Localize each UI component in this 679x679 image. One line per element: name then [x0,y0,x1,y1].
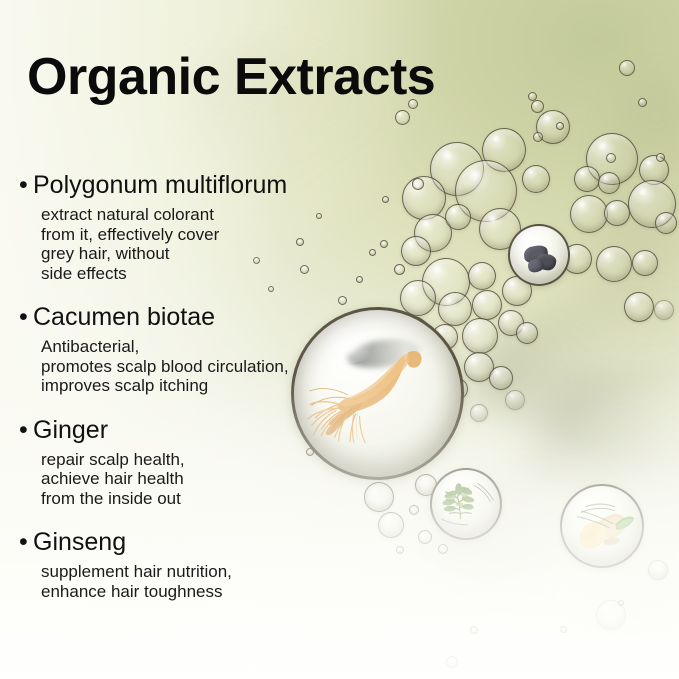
ingredient-name: Polygonum multiflorum [33,170,287,200]
description-line: achieve hair health [41,469,340,489]
description-line: grey hair, without [41,244,340,264]
ingredient-description: repair scalp health, achieve hair health… [41,450,340,509]
description-line: repair scalp health, [41,450,340,470]
ingredient-name: Ginseng [33,527,126,557]
bullet-icon: • [19,415,33,445]
bullet-icon: • [19,527,33,557]
cacumen-biotae-bubble [430,468,502,540]
description-line: side effects [41,264,340,284]
ingredient-list: • Polygonum multiflorum extract natural … [0,170,340,601]
description-line: supplement hair nutrition, [41,562,340,582]
ingredient-description: supplement hair nutrition, enhance hair … [41,562,340,601]
description-line: Antibacterial, [41,337,340,357]
description-line: from the inside out [41,489,340,509]
description-line: extract natural colorant [41,205,340,225]
bullet-icon: • [19,302,33,332]
polygonum-multiflorum-bubble [508,224,570,286]
ingredient-name: Cacumen biotae [33,302,215,332]
page-title: Organic Extracts [27,51,435,103]
ingredient-item-cacumen-biotae: • Cacumen biotae Antibacterial, promotes… [0,302,340,396]
description-line: improves scalp itching [41,376,340,396]
description-line: enhance hair toughness [41,582,340,602]
ingredient-name: Ginger [33,415,108,445]
ingredient-item-ginger: • Ginger repair scalp health, achieve ha… [0,415,340,509]
description-line: promotes scalp blood circulation, [41,357,340,377]
ginger-bubble [560,484,644,568]
ingredient-description: extract natural colorant from it, effect… [41,205,340,283]
bullet-icon: • [19,170,33,200]
ingredient-item-ginseng: • Ginseng supplement hair nutrition, enh… [0,527,340,601]
ginger-slices-illustration [562,486,642,566]
organic-extracts-poster: Organic Extracts • Polygonum multiflorum… [0,0,679,679]
ingredient-item-polygonum-multiflorum: • Polygonum multiflorum extract natural … [0,170,340,283]
description-line: from it, effectively cover [41,225,340,245]
biota-foliage-illustration [432,470,500,538]
ingredient-description: Antibacterial, promotes scalp blood circ… [41,337,340,396]
